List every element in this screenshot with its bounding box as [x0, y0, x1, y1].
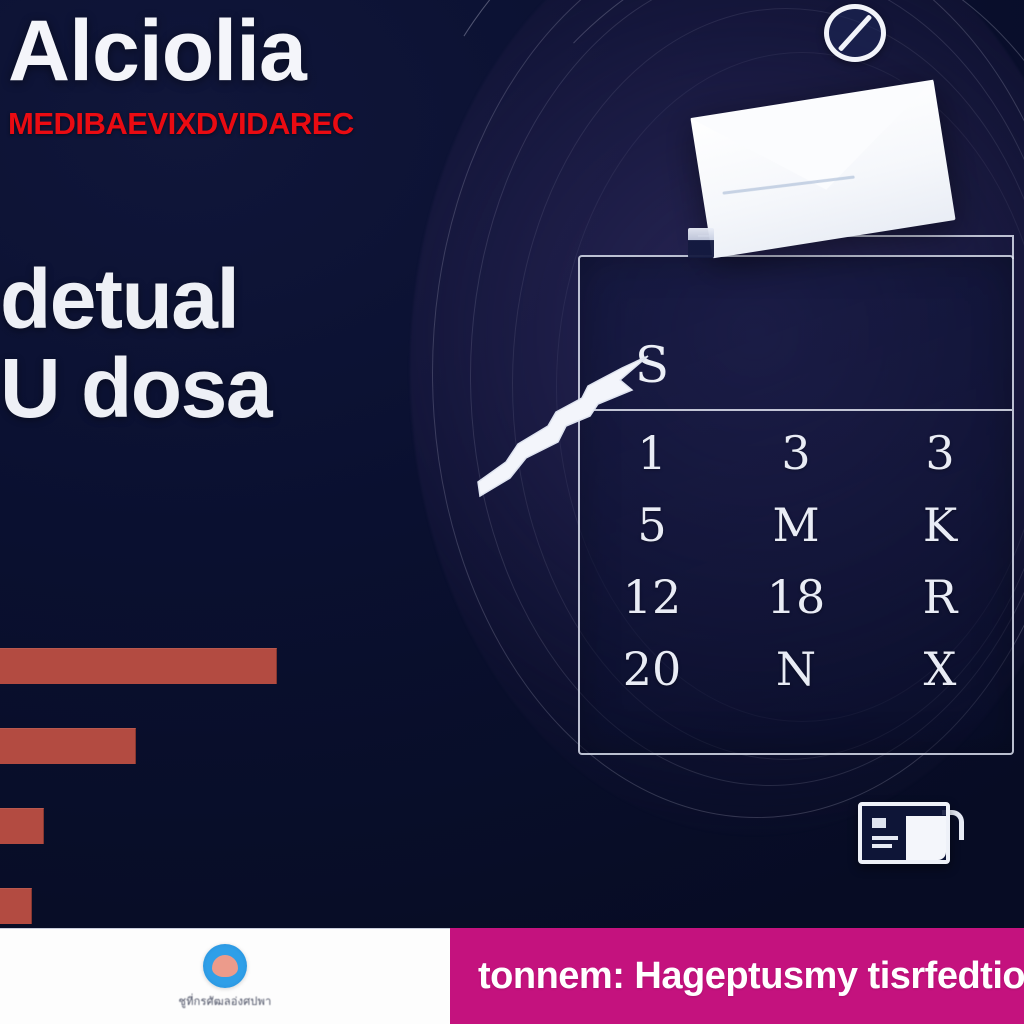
calendar-cell[interactable]: K	[868, 489, 1012, 561]
card-badge-glyph-b	[872, 836, 898, 840]
calendar-cell[interactable]: X	[868, 633, 1012, 705]
page-subtitle: MEDIBAEVIXDVIDAREC	[8, 106, 428, 142]
brand-logo-icon	[203, 944, 247, 988]
calendar-cell[interactable]: 3	[724, 417, 868, 489]
bar-row	[0, 888, 340, 924]
calendar-cell[interactable]: R	[868, 561, 1012, 633]
headline-line-1: detual	[0, 255, 430, 344]
footer-bar: ชูที่กรศัฒลอ่งศปพา tonnem: Hageptusmy ti…	[0, 928, 1024, 1024]
calendar-cell[interactable]: 20	[580, 633, 724, 705]
brand-caption: ชูที่กรศัฒลอ่งศปพา	[179, 992, 272, 1010]
bar-chart	[0, 648, 340, 924]
bar-spacer	[0, 844, 340, 888]
calendar-cell[interactable]: 3	[868, 417, 1012, 489]
bar-spacer	[0, 684, 340, 728]
calendar-cell[interactable]: 18	[724, 561, 868, 633]
footer-brand-area: ชูที่กรศัฒลอ่งศปพา	[0, 928, 450, 1024]
panel-top-glyph-icon	[688, 228, 714, 258]
bar-row	[0, 808, 340, 844]
bar-spacer	[0, 764, 340, 808]
title-block: Alciolia MEDIBAEVIXDVIDAREC	[8, 8, 428, 142]
calendar-cell[interactable]: 12	[580, 561, 724, 633]
card-badge-frame	[858, 802, 950, 864]
headline-line-2: U dosa	[0, 344, 430, 433]
card-badge-glyph-a	[872, 818, 886, 828]
headline-block: detual U dosa	[0, 255, 430, 433]
card-badge-glyph-c	[872, 844, 892, 848]
bar-item	[0, 728, 136, 764]
bar-row	[0, 728, 340, 764]
poster-canvas: Alciolia MEDIBAEVIXDVIDAREC detual U dos…	[0, 0, 1024, 1024]
calendar-header-cell	[868, 323, 1012, 407]
card-badge-icon	[858, 802, 966, 868]
footer-banner-text: tonnem: Hageptusmy tisrfedtior	[478, 955, 1024, 998]
calendar-header-cell	[724, 323, 868, 407]
calendar-cell[interactable]: N	[724, 633, 868, 705]
diagonal-pointer-icon	[470, 350, 660, 510]
bar-item	[0, 808, 44, 844]
pointer-shape	[478, 356, 648, 496]
footer-banner: tonnem: Hageptusmy tisrfedtior	[450, 928, 1024, 1024]
bar-item	[0, 888, 32, 924]
page-title: Alciolia	[8, 8, 428, 96]
panel-notch	[998, 235, 1014, 259]
card-badge-inner	[906, 816, 946, 860]
bar-item	[0, 648, 277, 684]
calendar-cell[interactable]: M	[724, 489, 868, 561]
no-entry-icon	[824, 4, 886, 62]
bar-row	[0, 648, 340, 684]
